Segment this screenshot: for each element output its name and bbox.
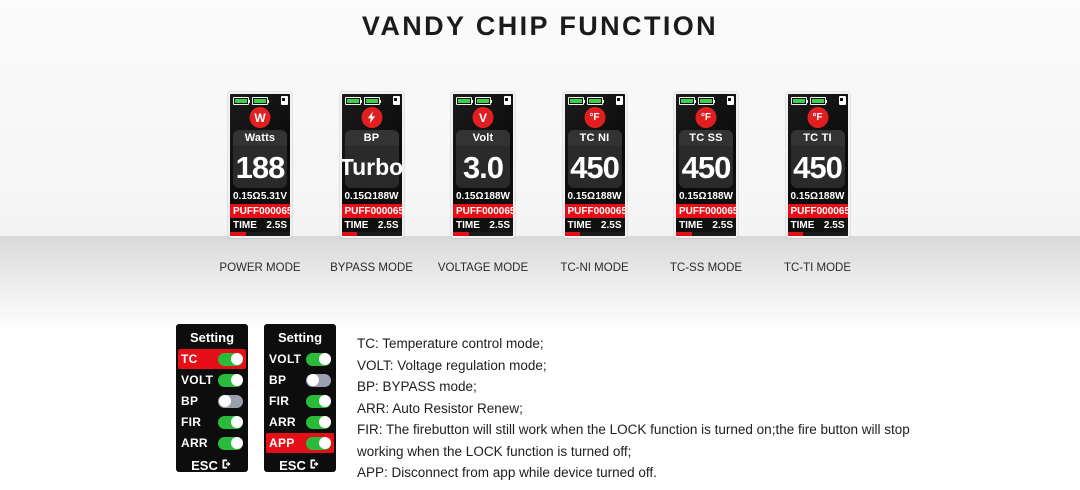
puff-progress-bar [230, 232, 290, 236]
primary-value-box: 450 [568, 146, 622, 188]
setting-row-bp[interactable]: BP [266, 370, 334, 390]
mode-badge: W [250, 107, 271, 128]
device-screen: °FTC TI4500.15Ω188WPUFF000065TIME2.5S [786, 92, 850, 238]
primary-value-box: 3.0 [456, 146, 510, 188]
mode-name-label: BP [345, 130, 399, 146]
output-value: 188W [595, 191, 621, 202]
mode-badge: °F [584, 107, 605, 128]
resistance-row: 0.15Ω188W [788, 188, 848, 204]
mode-name-label: TC SS [679, 130, 733, 146]
time-value: 2.5S [489, 220, 510, 231]
battery-icon-1 [679, 97, 695, 105]
usb-icon [839, 96, 846, 105]
mode-badge-wrap: °F [565, 107, 625, 129]
puff-label: PUFF [568, 206, 594, 217]
setting-label: ARR [181, 436, 208, 450]
battery-icon-1 [456, 97, 472, 105]
resistance-row: 0.15Ω188W [453, 188, 513, 204]
primary-value: Turbo [340, 156, 403, 179]
setting-row-volt[interactable]: VOLT [266, 349, 334, 369]
exit-icon [309, 458, 321, 473]
battery-icon-2 [587, 97, 603, 105]
mode-caption: TC-NI MODE [530, 262, 660, 274]
resistance-value: 0.15Ω [679, 191, 706, 202]
bolt-icon [366, 111, 378, 124]
time-value: 2.5S [712, 220, 733, 231]
setting-label: FIR [269, 394, 289, 408]
puff-counter-row: PUFF000065 [230, 204, 290, 218]
puff-label: PUFF [233, 206, 259, 217]
mode-caption: BYPASS MODE [307, 262, 437, 274]
puff-value: 000065 [817, 206, 850, 217]
battery-icon-1 [345, 97, 361, 105]
puff-progress-bar [453, 232, 513, 236]
esc-label: ESC [279, 458, 306, 473]
resistance-value: 0.15Ω [233, 191, 260, 202]
resistance-row: 0.15Ω188W [342, 188, 402, 204]
battery-icon-1 [568, 97, 584, 105]
resistance-value: 0.15Ω [456, 191, 483, 202]
battery-icon-2 [810, 97, 826, 105]
device-screens-row: WWatts1880.15Ω5.31VPUFF000065TIME2.5SBPT… [0, 92, 1080, 242]
description-line: BP: BYPASS mode; [357, 376, 982, 398]
primary-value-box: 450 [791, 146, 845, 188]
output-value: 188W [484, 191, 510, 202]
fahrenheit-icon: °F [701, 113, 711, 123]
toggle-switch-tc[interactable] [218, 353, 243, 366]
battery-icon-2 [475, 97, 491, 105]
status-bar [788, 94, 848, 107]
puff-label: PUFF [791, 206, 817, 217]
mode-badge-wrap: °F [788, 107, 848, 129]
puff-value: 000065 [705, 206, 738, 217]
time-row: TIME2.5S [453, 218, 513, 232]
setting-row-arr[interactable]: ARR [178, 433, 246, 453]
settings-title: Setting [176, 327, 248, 348]
time-label: TIME [791, 220, 815, 231]
mode-badge: °F [807, 107, 828, 128]
primary-value-box: Turbo [345, 146, 399, 188]
setting-label: APP [269, 436, 295, 450]
toggle-switch-arr[interactable] [218, 437, 243, 450]
puff-counter-row: PUFF000065 [788, 204, 848, 218]
device-screen: °FTC NI4500.15Ω188WPUFF000065TIME2.5S [563, 92, 627, 238]
battery-icon-2 [252, 97, 268, 105]
mode-caption: POWER MODE [195, 262, 325, 274]
puff-value: 000065 [594, 206, 627, 217]
time-label: TIME [345, 220, 369, 231]
puff-value: 000065 [259, 206, 292, 217]
setting-row-app[interactable]: APP [266, 433, 334, 453]
primary-value-box: 450 [679, 146, 733, 188]
time-row: TIME2.5S [676, 218, 736, 232]
toggle-switch-fir[interactable] [218, 416, 243, 429]
resistance-value: 0.15Ω [345, 191, 372, 202]
output-value: 188W [818, 191, 844, 202]
description-line: VOLT: Voltage regulation mode; [357, 355, 982, 377]
mode-badge-wrap [342, 107, 402, 129]
toggle-switch-app[interactable] [306, 437, 331, 450]
toggle-switch-bp[interactable] [218, 395, 243, 408]
setting-label: BP [181, 394, 198, 408]
device-screen: °FTC SS4500.15Ω188WPUFF000065TIME2.5S [674, 92, 738, 238]
time-row: TIME2.5S [342, 218, 402, 232]
watt-icon: W [254, 112, 265, 124]
time-label: TIME [679, 220, 703, 231]
puff-progress-bar [676, 232, 736, 236]
device-display: VVolt3.00.15Ω188WPUFF000065TIME2.5S [453, 94, 513, 236]
mode-caption: TC-TI MODE [753, 262, 883, 274]
time-label: TIME [456, 220, 480, 231]
output-value: 188W [707, 191, 733, 202]
primary-value: 3.0 [463, 152, 503, 183]
primary-value-box: 188 [233, 146, 287, 188]
toggle-switch-volt[interactable] [218, 374, 243, 387]
primary-value: 450 [682, 152, 731, 183]
esc-label: ESC [191, 458, 218, 473]
mode-name-label: Watts [233, 130, 287, 146]
setting-row-bp[interactable]: BP [178, 391, 246, 411]
usb-icon [504, 96, 511, 105]
puff-label: PUFF [345, 206, 371, 217]
device-display: BPTurbo0.15Ω188WPUFF000065TIME2.5S [342, 94, 402, 236]
status-bar [453, 94, 513, 107]
puff-value: 000065 [371, 206, 404, 217]
setting-label: ARR [269, 415, 296, 429]
usb-icon [281, 96, 288, 105]
battery-icon-1 [791, 97, 807, 105]
output-value: 5.31V [261, 191, 287, 202]
description-line: APP: Disconnect from app while device tu… [357, 462, 982, 484]
usb-icon [393, 96, 400, 105]
battery-icon-2 [364, 97, 380, 105]
puff-progress-bar [342, 232, 402, 236]
esc-button[interactable]: ESC [176, 454, 248, 472]
device-screen: VVolt3.00.15Ω188WPUFF000065TIME2.5S [451, 92, 515, 238]
time-row: TIME2.5S [565, 218, 625, 232]
description-line: ARR: Auto Resistor Renew; [357, 398, 982, 420]
fahrenheit-icon: °F [589, 113, 599, 123]
time-value: 2.5S [824, 220, 845, 231]
mode-caption: TC-SS MODE [641, 262, 771, 274]
mode-name-label: TC TI [791, 130, 845, 146]
mode-badge: °F [696, 107, 717, 128]
toggle-switch-bp[interactable] [306, 374, 331, 387]
resistance-row: 0.15Ω188W [676, 188, 736, 204]
time-label: TIME [568, 220, 592, 231]
background-gradient-band [0, 236, 1080, 332]
volt-icon: V [479, 112, 487, 124]
puff-counter-row: PUFF000065 [565, 204, 625, 218]
function-description: TC: Temperature control mode;VOLT: Volta… [357, 333, 982, 484]
mode-badge-wrap: °F [676, 107, 736, 129]
device-display: °FTC NI4500.15Ω188WPUFF000065TIME2.5S [565, 94, 625, 236]
status-bar [230, 94, 290, 107]
status-bar [676, 94, 736, 107]
usb-icon [727, 96, 734, 105]
settings-menu-panel: SettingTCVOLTBPFIRARRESC [176, 324, 248, 472]
primary-value: 450 [793, 152, 842, 183]
usb-icon [616, 96, 623, 105]
time-row: TIME2.5S [230, 218, 290, 232]
mode-name-label: TC NI [568, 130, 622, 146]
puff-counter-row: PUFF000065 [676, 204, 736, 218]
toggle-switch-volt[interactable] [306, 353, 331, 366]
puff-value: 000065 [482, 206, 515, 217]
mode-badge: V [473, 107, 494, 128]
setting-row-fir[interactable]: FIR [266, 391, 334, 411]
primary-value: 188 [236, 152, 285, 183]
device-display: °FTC TI4500.15Ω188WPUFF000065TIME2.5S [788, 94, 848, 236]
setting-label: FIR [181, 415, 201, 429]
description-line: working when the LOCK function is turned… [357, 441, 982, 463]
puff-label: PUFF [679, 206, 705, 217]
setting-label: VOLT [181, 373, 213, 387]
time-label: TIME [233, 220, 257, 231]
setting-row-tc[interactable]: TC [178, 349, 246, 369]
resistance-value: 0.15Ω [791, 191, 818, 202]
puff-label: PUFF [456, 206, 482, 217]
status-bar [565, 94, 625, 107]
esc-button[interactable]: ESC [264, 454, 336, 472]
resistance-row: 0.15Ω5.31V [230, 188, 290, 204]
mode-badge [361, 107, 382, 128]
settings-title: Setting [264, 327, 336, 348]
exit-icon [221, 458, 233, 473]
puff-counter-row: PUFF000065 [342, 204, 402, 218]
puff-counter-row: PUFF000065 [453, 204, 513, 218]
time-value: 2.5S [266, 220, 287, 231]
fahrenheit-icon: °F [812, 113, 822, 123]
setting-row-arr[interactable]: ARR [266, 412, 334, 432]
resistance-value: 0.15Ω [568, 191, 595, 202]
battery-icon-1 [233, 97, 249, 105]
mode-badge-wrap: W [230, 107, 290, 129]
resistance-row: 0.15Ω188W [565, 188, 625, 204]
setting-row-fir[interactable]: FIR [178, 412, 246, 432]
setting-row-volt[interactable]: VOLT [178, 370, 246, 390]
puff-progress-bar [788, 232, 848, 236]
page-title: VANDY CHIP FUNCTION [0, 11, 1080, 42]
time-value: 2.5S [378, 220, 399, 231]
setting-label: VOLT [269, 352, 301, 366]
device-screen: BPTurbo0.15Ω188WPUFF000065TIME2.5S [340, 92, 404, 238]
description-line: FIR: The firebutton will still work when… [357, 419, 982, 441]
time-row: TIME2.5S [788, 218, 848, 232]
toggle-switch-fir[interactable] [306, 395, 331, 408]
device-screen: WWatts1880.15Ω5.31VPUFF000065TIME2.5S [228, 92, 292, 238]
device-display: °FTC SS4500.15Ω188WPUFF000065TIME2.5S [676, 94, 736, 236]
settings-menu-panel: SettingVOLTBPFIRARRAPPESC [264, 324, 336, 472]
mode-badge-wrap: V [453, 107, 513, 129]
status-bar [342, 94, 402, 107]
setting-label: BP [269, 373, 286, 387]
toggle-switch-arr[interactable] [306, 416, 331, 429]
setting-label: TC [181, 352, 198, 366]
time-value: 2.5S [601, 220, 622, 231]
battery-icon-2 [698, 97, 714, 105]
output-value: 188W [372, 191, 398, 202]
mode-caption: VOLTAGE MODE [418, 262, 548, 274]
primary-value: 450 [570, 152, 619, 183]
description-line: TC: Temperature control mode; [357, 333, 982, 355]
mode-captions-row: POWER MODEBYPASS MODEVOLTAGE MODETC-NI M… [0, 262, 1080, 280]
device-display: WWatts1880.15Ω5.31VPUFF000065TIME2.5S [230, 94, 290, 236]
puff-progress-bar [565, 232, 625, 236]
mode-name-label: Volt [456, 130, 510, 146]
